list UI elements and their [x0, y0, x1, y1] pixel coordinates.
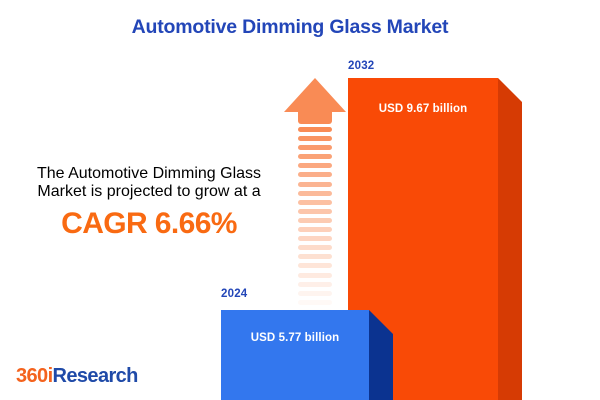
arrow-segment: [298, 282, 332, 287]
upward-growth-arrow-icon: [284, 78, 346, 298]
infographic-canvas: Automotive Dimming Glass Market The Auto…: [0, 0, 600, 400]
bar-label-year-2032: 2032: [348, 60, 374, 72]
arrow-segment: [298, 245, 332, 250]
arrow-segment: [298, 127, 332, 132]
logo-research: Research: [53, 365, 138, 387]
bar-2024-front-face: USD 5.77 billion: [221, 310, 369, 400]
arrow-segment: [298, 300, 332, 305]
arrow-segment: [298, 191, 332, 196]
arrow-neck: [298, 112, 332, 124]
arrow-segment: [298, 209, 332, 214]
arrow-head-icon: [284, 78, 346, 112]
arrow-segment: [298, 227, 332, 232]
arrow-segment: [298, 172, 332, 177]
arrow-segment: [298, 136, 332, 141]
arrow-segment: [298, 254, 332, 259]
arrow-segment: [298, 291, 332, 296]
bar-2032-side-face: [498, 78, 522, 400]
cagr-value: CAGR 6.66%: [14, 208, 284, 240]
callout-line-1: The Automotive Dimming Glass: [14, 165, 284, 183]
callout-text-block: The Automotive Dimming Glass Market is p…: [14, 165, 284, 240]
bar-2024-value-label: USD 5.77 billion: [221, 332, 369, 344]
arrow-segment: [298, 200, 332, 205]
arrow-segment: [298, 182, 332, 187]
logo-360i: 360i: [16, 365, 53, 387]
bar-2024: USD 5.77 billion: [221, 310, 393, 400]
page-title: Automotive Dimming Glass Market: [0, 16, 580, 39]
brand-logo: 360iResearch: [16, 365, 138, 388]
bar-2024-side-face: [369, 310, 393, 400]
arrow-segment: [298, 263, 332, 268]
arrow-segment: [298, 236, 332, 241]
bar-label-year-2024: 2024: [221, 288, 247, 300]
arrow-segment: [298, 163, 332, 168]
arrow-segment: [298, 154, 332, 159]
arrow-segment: [298, 218, 332, 223]
callout-line-2: Market is projected to grow at a: [14, 183, 284, 201]
arrow-segment: [298, 273, 332, 278]
bar-2032-value-label: USD 9.67 billion: [348, 103, 498, 115]
arrow-segment-stack: [298, 127, 332, 327]
arrow-segment: [298, 145, 332, 150]
